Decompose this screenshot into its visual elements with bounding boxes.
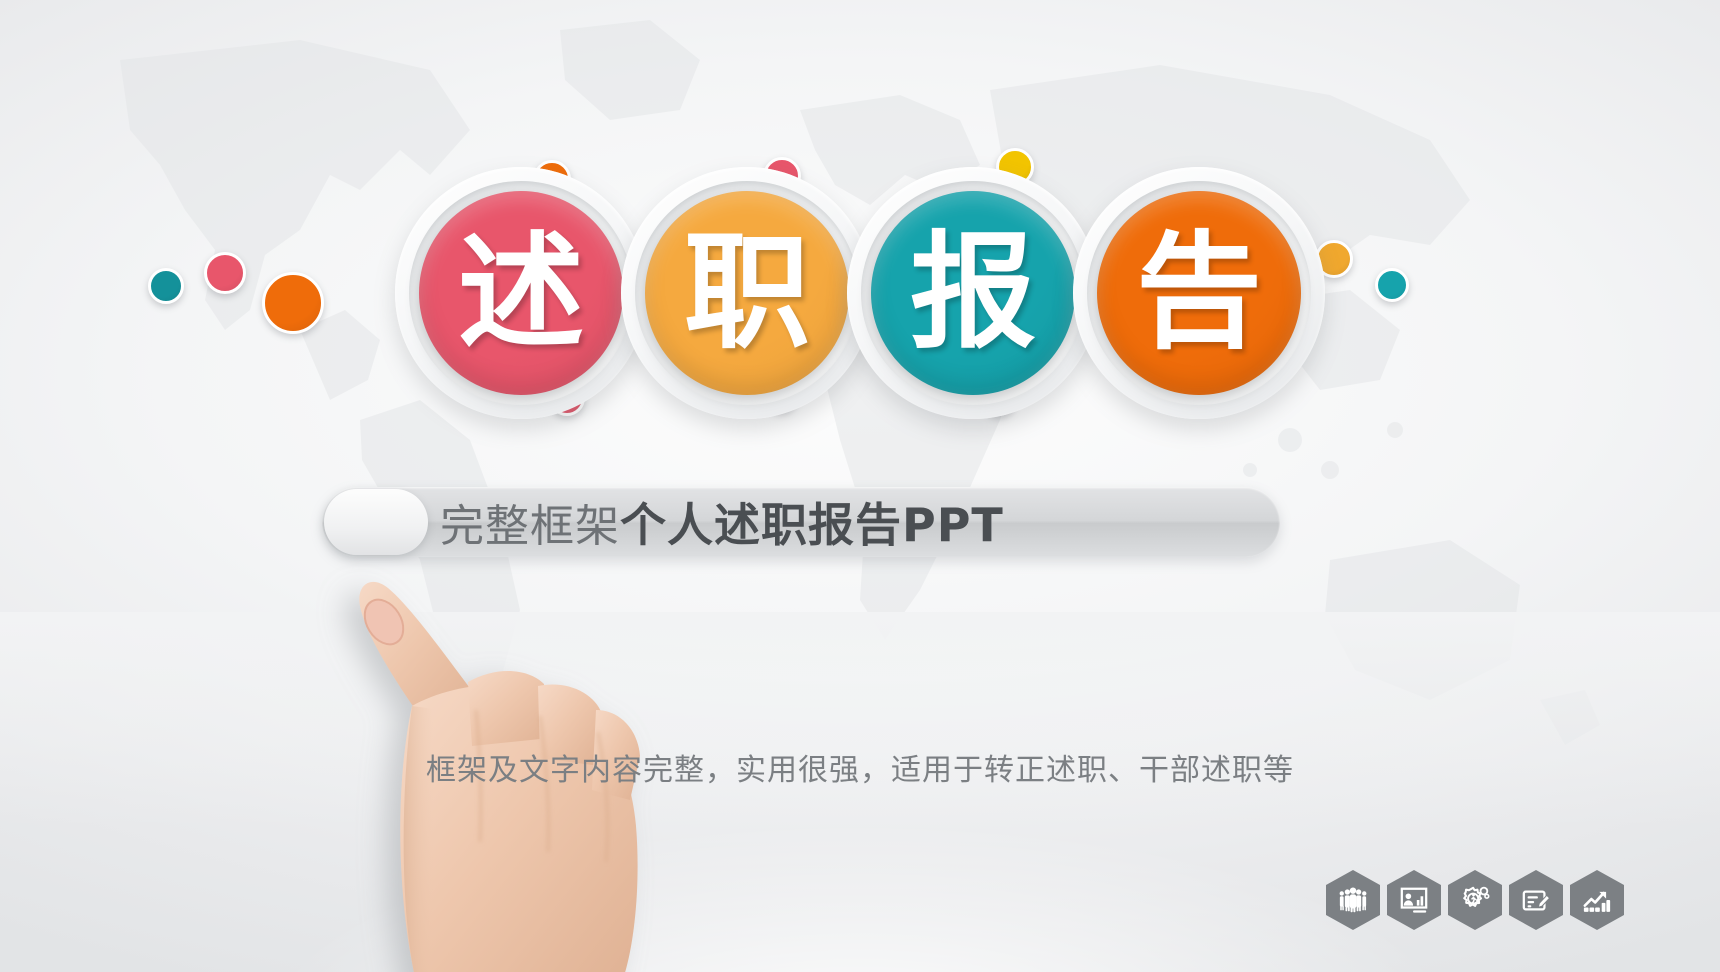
presentation-chart-icon[interactable]: [1387, 870, 1441, 930]
world-map-background: [0, 0, 1720, 972]
title-circle-2: 职: [621, 167, 873, 419]
subtitle-bold-text: 个人述职报告PPT: [620, 489, 1004, 555]
title-circle-row: 述 职 报 告: [0, 148, 1720, 438]
growth-chart-glyph: [1582, 885, 1612, 915]
team-people-glyph: [1338, 885, 1368, 915]
circle-disc: 告: [1097, 191, 1301, 395]
growth-chart-icon[interactable]: [1570, 870, 1624, 930]
document-edit-glyph: [1521, 885, 1551, 915]
circle-disc: 述: [419, 191, 623, 395]
title-char: 报: [910, 230, 1036, 356]
document-edit-icon[interactable]: [1509, 870, 1563, 930]
subtitle-capsule-bar: 完整框架 个人述职报告PPT: [322, 487, 1280, 557]
subtitle-text-group: 完整框架 个人述职报告PPT: [440, 487, 1254, 557]
title-circle-1: 述: [395, 167, 647, 419]
presentation-slide: 述 职 报 告 完整框架 个人述职报: [0, 0, 1720, 972]
team-people-icon[interactable]: [1326, 870, 1380, 930]
gear-person-icon[interactable]: [1448, 870, 1502, 930]
presentation-chart-glyph: [1399, 885, 1429, 915]
title-char: 职: [684, 230, 810, 356]
gear-person-glyph: [1460, 885, 1490, 915]
capsule-knob: [324, 489, 428, 555]
title-char: 述: [458, 230, 584, 356]
title-circle-3: 报: [847, 167, 1099, 419]
hex-icon-strip: [1326, 870, 1624, 930]
subtitle-light-text: 完整框架: [440, 490, 620, 554]
title-circle-4: 告: [1073, 167, 1325, 419]
slide-description: 框架及文字内容完整，实用很强，适用于转正述职、干部述职等: [0, 745, 1720, 789]
title-char: 告: [1136, 230, 1262, 356]
circle-disc: 职: [645, 191, 849, 395]
circle-disc: 报: [871, 191, 1075, 395]
